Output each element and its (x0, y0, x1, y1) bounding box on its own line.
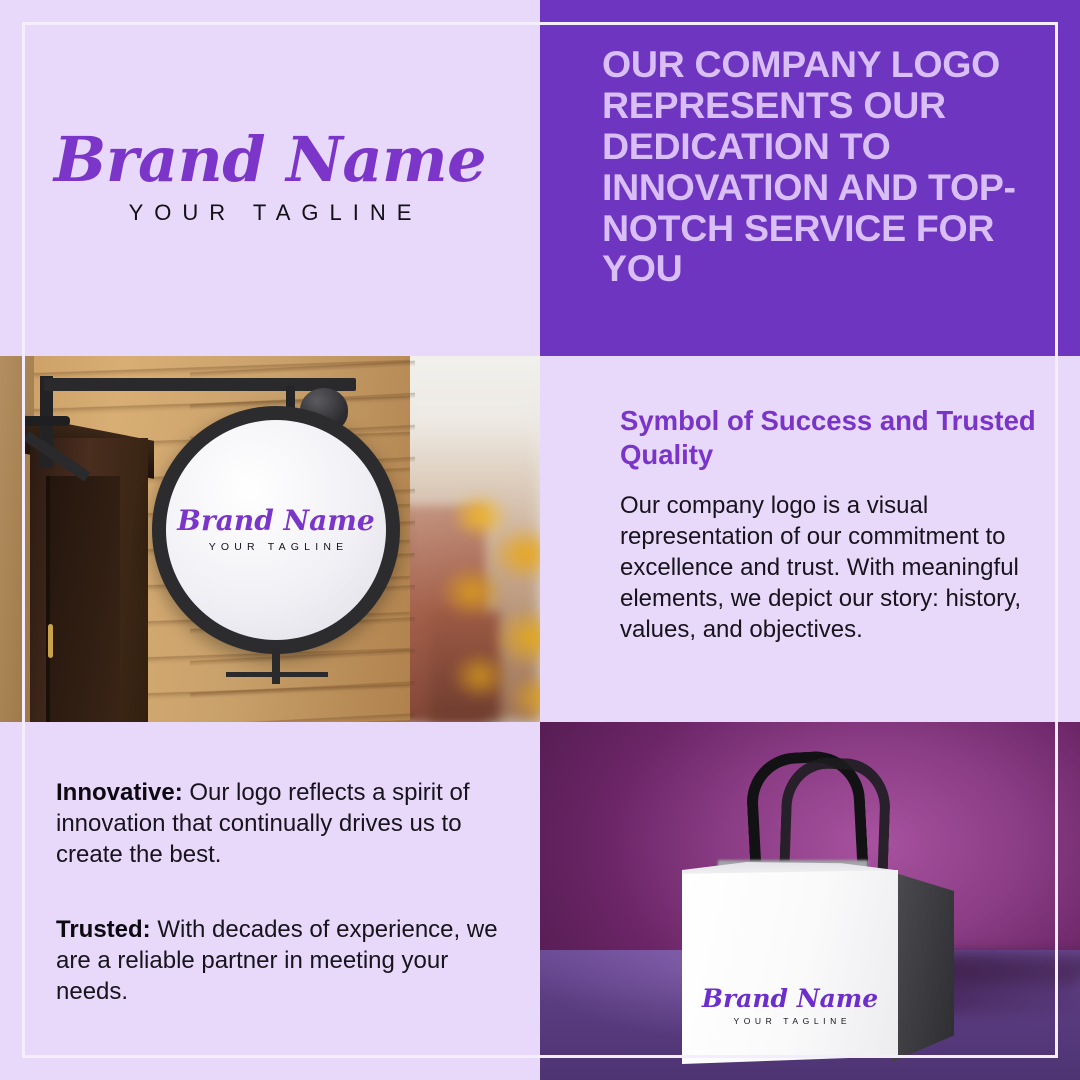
feature-label-innovative: Innovative: (56, 779, 183, 806)
feature-item-innovative: Innovative: Our logo reflects a spirit o… (56, 778, 506, 871)
headline-panel: OUR COMPANY LOGO REPRESENTS OUR DEDICATI… (540, 0, 1080, 356)
features-panel: Innovative: Our logo reflects a spirit o… (0, 722, 540, 1080)
bag-scene: Brand Name YOUR TAGLINE (540, 722, 1080, 1080)
headline-text: OUR COMPANY LOGO REPRESENTS OUR DEDICATI… (602, 44, 1042, 289)
sign-bracket-brace-secondary (24, 416, 70, 426)
bag-brand-name: Brand Name (682, 986, 898, 1011)
bag-side-panel (892, 872, 954, 1062)
sign-foot-bar (226, 672, 328, 677)
facade-left-wall (0, 356, 34, 722)
description-panel: Symbol of Success and Trusted Quality Ou… (540, 356, 1080, 722)
sign-brand-tagline: YOUR TAGLINE (204, 541, 349, 553)
features-content: Innovative: Our logo reflects a spirit o… (56, 778, 506, 1008)
brand-lockup: Brand Name YOUR TAGLINE (0, 128, 540, 226)
sign-face: Brand Name YOUR TAGLINE (166, 420, 386, 640)
door-handle (48, 624, 53, 658)
sign-brand-name: Brand Name (177, 507, 374, 535)
street-scene: Brand Name YOUR TAGLINE (0, 356, 540, 722)
description-content: Symbol of Success and Trusted Quality Ou… (620, 404, 1050, 646)
circular-sign: Brand Name YOUR TAGLINE (152, 406, 400, 654)
brand-name: Brand Name (0, 128, 540, 191)
storefront-sign-photo: Brand Name YOUR TAGLINE (0, 356, 540, 722)
feature-label-trusted: Trusted: (56, 916, 151, 943)
description-heading: Symbol of Success and Trusted Quality (620, 404, 1050, 471)
brand-poster: Brand Name YOUR TAGLINE OUR COMPANY LOGO… (0, 0, 1080, 1080)
bag-logo: Brand Name YOUR TAGLINE (682, 986, 898, 1026)
autumn-tree (440, 476, 540, 722)
description-body: Our company logo is a visual representat… (620, 491, 1050, 646)
shopping-bag-photo: Brand Name YOUR TAGLINE (540, 722, 1080, 1080)
bag-front-panel: Brand Name YOUR TAGLINE (682, 870, 898, 1064)
sign-stem (272, 648, 280, 684)
brand-lockup-panel: Brand Name YOUR TAGLINE (0, 0, 540, 356)
bag-brand-tagline: YOUR TAGLINE (682, 1016, 898, 1026)
door-frame (46, 476, 120, 722)
feature-item-trusted: Trusted: With decades of experience, we … (56, 915, 506, 1008)
sign-bracket-arm (44, 378, 356, 391)
brand-tagline: YOUR TAGLINE (0, 200, 540, 226)
